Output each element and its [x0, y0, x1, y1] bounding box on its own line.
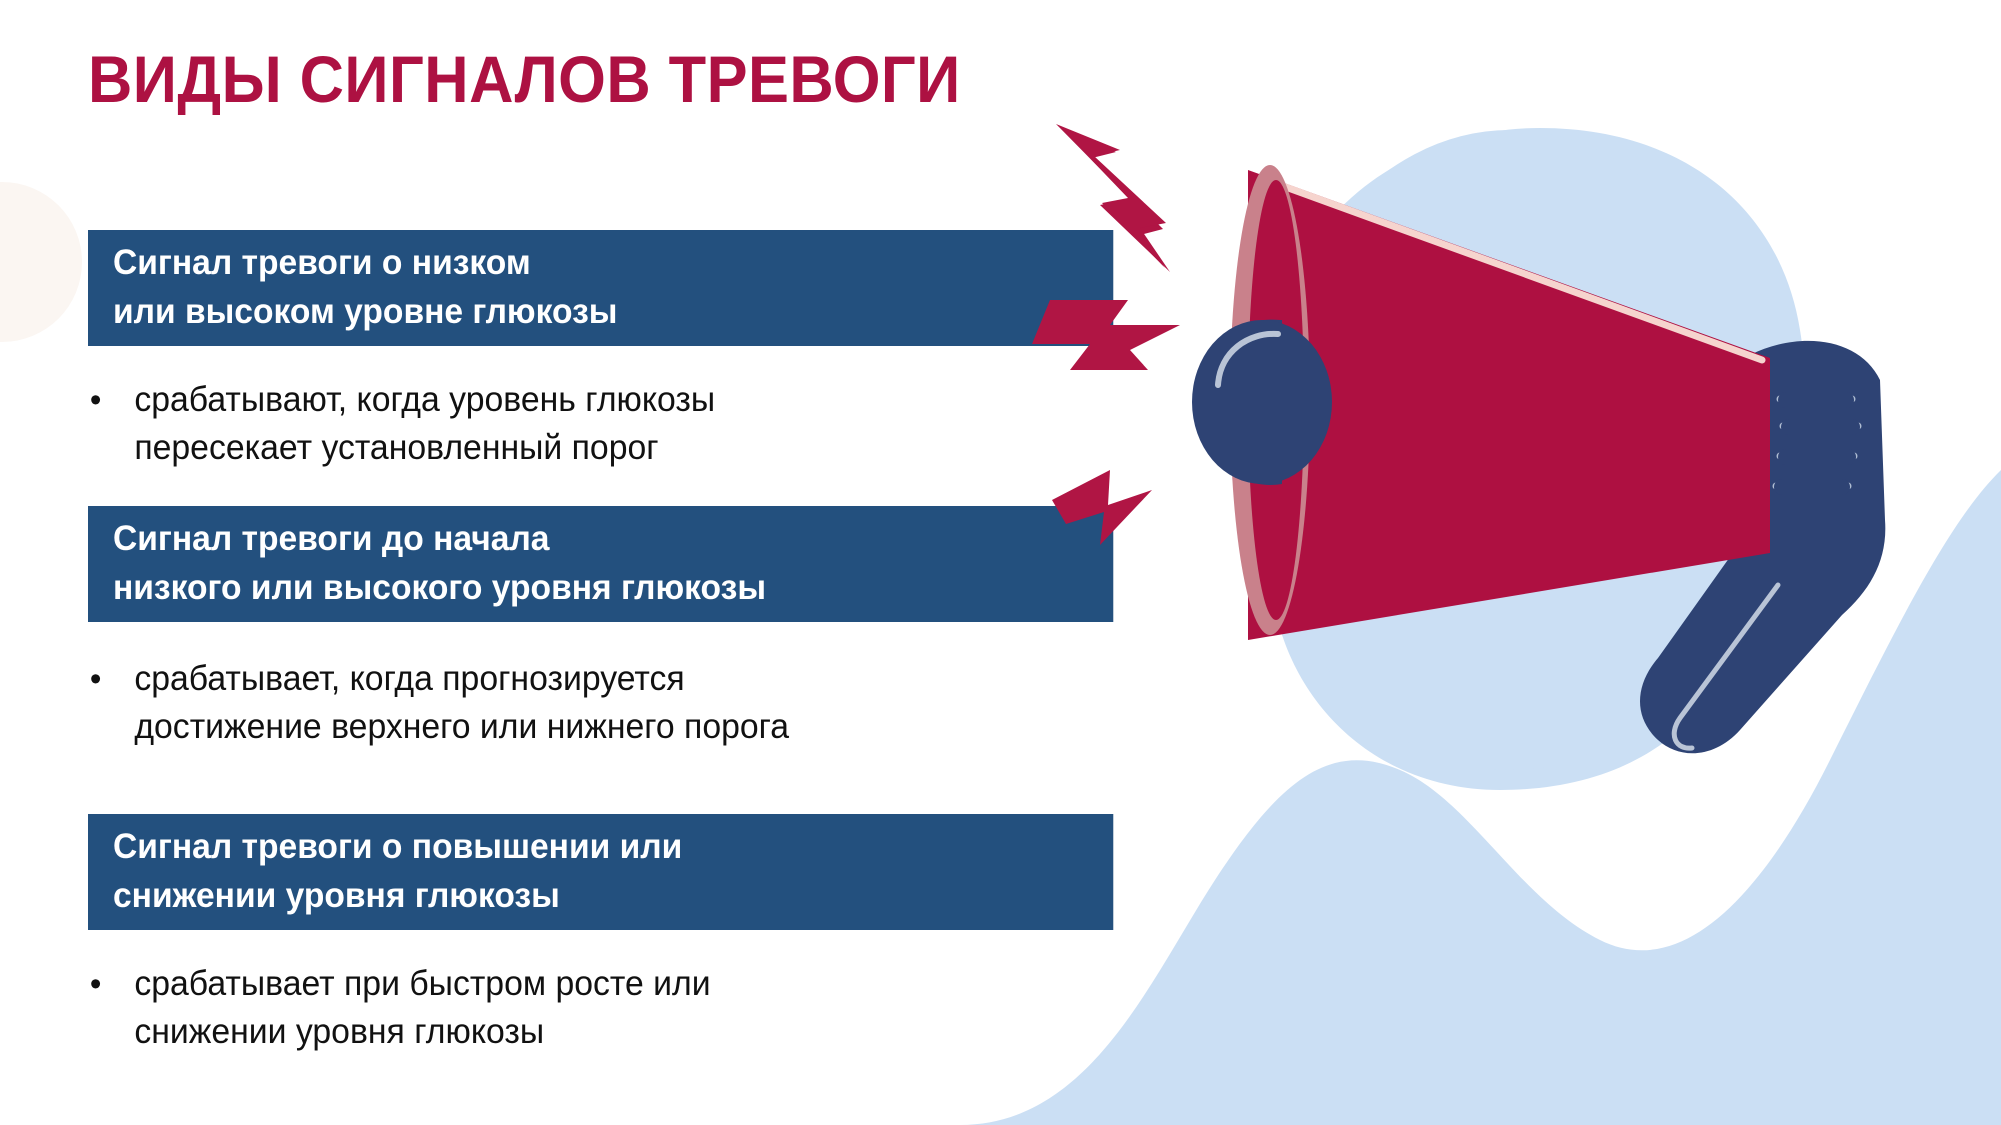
- section-header-1-line-2: или высоком уровне глюкозы: [113, 287, 1096, 336]
- section-bullet-2-line-2: достижение верхнего или нижнего порога: [134, 703, 789, 751]
- lightning-bolt-middle-icon: [1032, 300, 1180, 370]
- grille-inner-1: [1778, 392, 1854, 408]
- content-column: Сигнал тревоги о низком или высоком уров…: [0, 0, 1000, 1125]
- bullet-marker: •: [88, 655, 134, 703]
- section-bullet-1-line-2: пересекает установленный порог: [134, 424, 715, 472]
- section-bullet-3-line-2: снижении уровня глюкозы: [134, 1008, 710, 1056]
- section-header-3: Сигнал тревоги о повышении или снижении …: [88, 814, 1113, 930]
- bullet-text: срабатывает, когда прогнозируется достиж…: [134, 655, 789, 751]
- bullet-marker: •: [88, 960, 134, 1008]
- bullet-text: срабатывают, когда уровень глюкозы перес…: [134, 376, 715, 472]
- section-header-3-line-1: Сигнал тревоги о повышении или: [113, 822, 1096, 871]
- section-header-3-line-2: снижении уровня глюкозы: [113, 871, 1096, 920]
- megaphone-illustration: [980, 0, 2001, 1125]
- megaphone-knob-circle: [1192, 320, 1332, 484]
- section-header-1: Сигнал тревоги о низком или высоком уров…: [88, 230, 1113, 346]
- section-header-1-line-1: Сигнал тревоги о низком: [113, 238, 1096, 287]
- section-header-2-line-1: Сигнал тревоги до начала: [113, 514, 1096, 563]
- section-header-2-line-2: низкого или высокого уровня глюкозы: [113, 563, 1096, 612]
- section-header-2: Сигнал тревоги до начала низкого или выс…: [88, 506, 1113, 622]
- bullet-marker: •: [88, 376, 134, 424]
- section-bullet-1: • срабатывают, когда уровень глюкозы пер…: [88, 376, 715, 472]
- bullet-text: срабатывает при быстром росте или снижен…: [134, 960, 710, 1056]
- section-bullet-2-line-1: срабатывает, когда прогнозируется: [134, 655, 789, 703]
- section-bullet-1-line-1: срабатывают, когда уровень глюкозы: [134, 376, 715, 424]
- slide-root: ВИДЫ СИГНАЛОВ ТРЕВОГИ Сигнал тревоги о н…: [0, 0, 2001, 1125]
- section-bullet-2: • срабатывает, когда прогнозируется дост…: [88, 655, 789, 751]
- grille-inner-2: [1781, 419, 1860, 435]
- section-bullet-3-line-1: срабатывает при быстром росте или: [134, 960, 710, 1008]
- grille-inner-3: [1778, 449, 1856, 465]
- lightning-bolt-lower-icon: [1052, 470, 1152, 545]
- lightning-bolt-upper-fill: [1056, 124, 1170, 272]
- megaphone-icon: [980, 0, 2001, 1125]
- section-bullet-3: • срабатывает при быстром росте или сниж…: [88, 960, 711, 1056]
- grille-inner-4: [1774, 479, 1850, 495]
